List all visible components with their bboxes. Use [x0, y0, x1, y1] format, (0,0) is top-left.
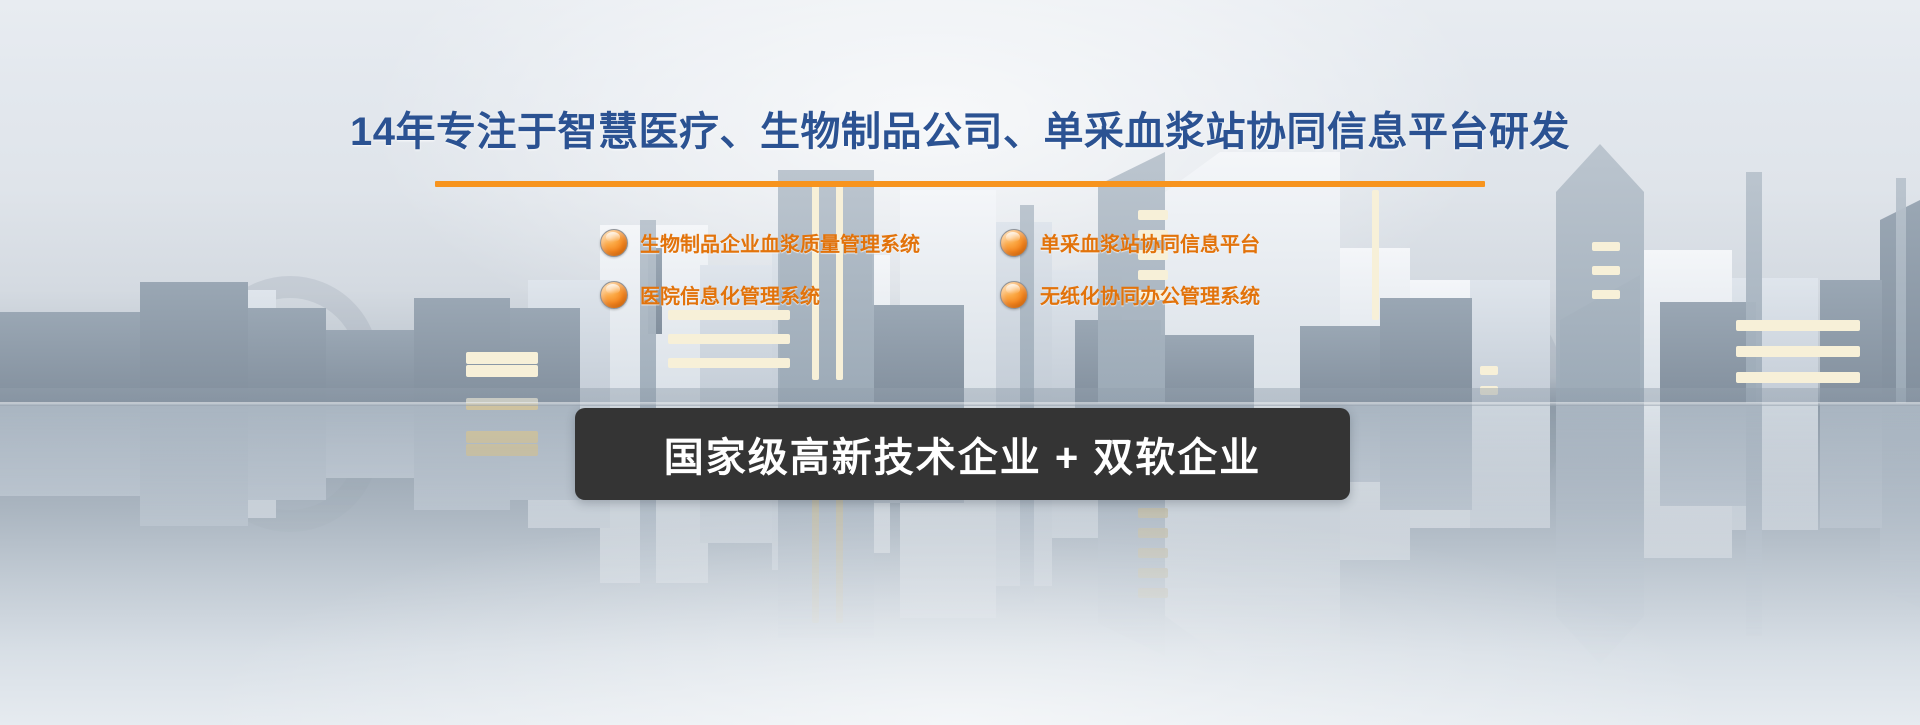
feature-item-plasma-quality[interactable]: 生物制品企业血浆质量管理系统: [600, 228, 920, 257]
feature-label: 生物制品企业血浆质量管理系统: [640, 228, 920, 257]
feature-label: 单采血浆站协同信息平台: [1040, 228, 1260, 257]
certification-badge: 国家级高新技术企业 + 双软企业: [575, 408, 1350, 500]
certification-badge-text: 国家级高新技术企业 + 双软企业: [664, 425, 1262, 483]
orange-sphere-bullet-icon: [600, 281, 628, 309]
page-title: 14年专注于智慧医疗、生物制品公司、单采血浆站协同信息平台研发: [0, 99, 1920, 157]
feature-item-plasma-station[interactable]: 单采血浆站协同信息平台: [1000, 228, 1260, 257]
orange-sphere-bullet-icon: [600, 229, 628, 257]
orange-sphere-bullet-icon: [1000, 229, 1028, 257]
feature-item-hospital-info[interactable]: 医院信息化管理系统: [600, 280, 820, 309]
feature-label: 无纸化协同办公管理系统: [1040, 280, 1260, 309]
hero-banner: 14年专注于智慧医疗、生物制品公司、单采血浆站协同信息平台研发 生物制品企业血浆…: [0, 0, 1920, 725]
orange-sphere-bullet-icon: [1000, 281, 1028, 309]
title-underline-rule: [435, 181, 1485, 187]
banner-content: 14年专注于智慧医疗、生物制品公司、单采血浆站协同信息平台研发 生物制品企业血浆…: [0, 0, 1920, 725]
feature-label: 医院信息化管理系统: [640, 280, 820, 309]
feature-item-paperless-office[interactable]: 无纸化协同办公管理系统: [1000, 280, 1260, 309]
feature-list: 生物制品企业血浆质量管理系统 单采血浆站协同信息平台 医院信息化管理系统 无纸化…: [600, 228, 1320, 338]
